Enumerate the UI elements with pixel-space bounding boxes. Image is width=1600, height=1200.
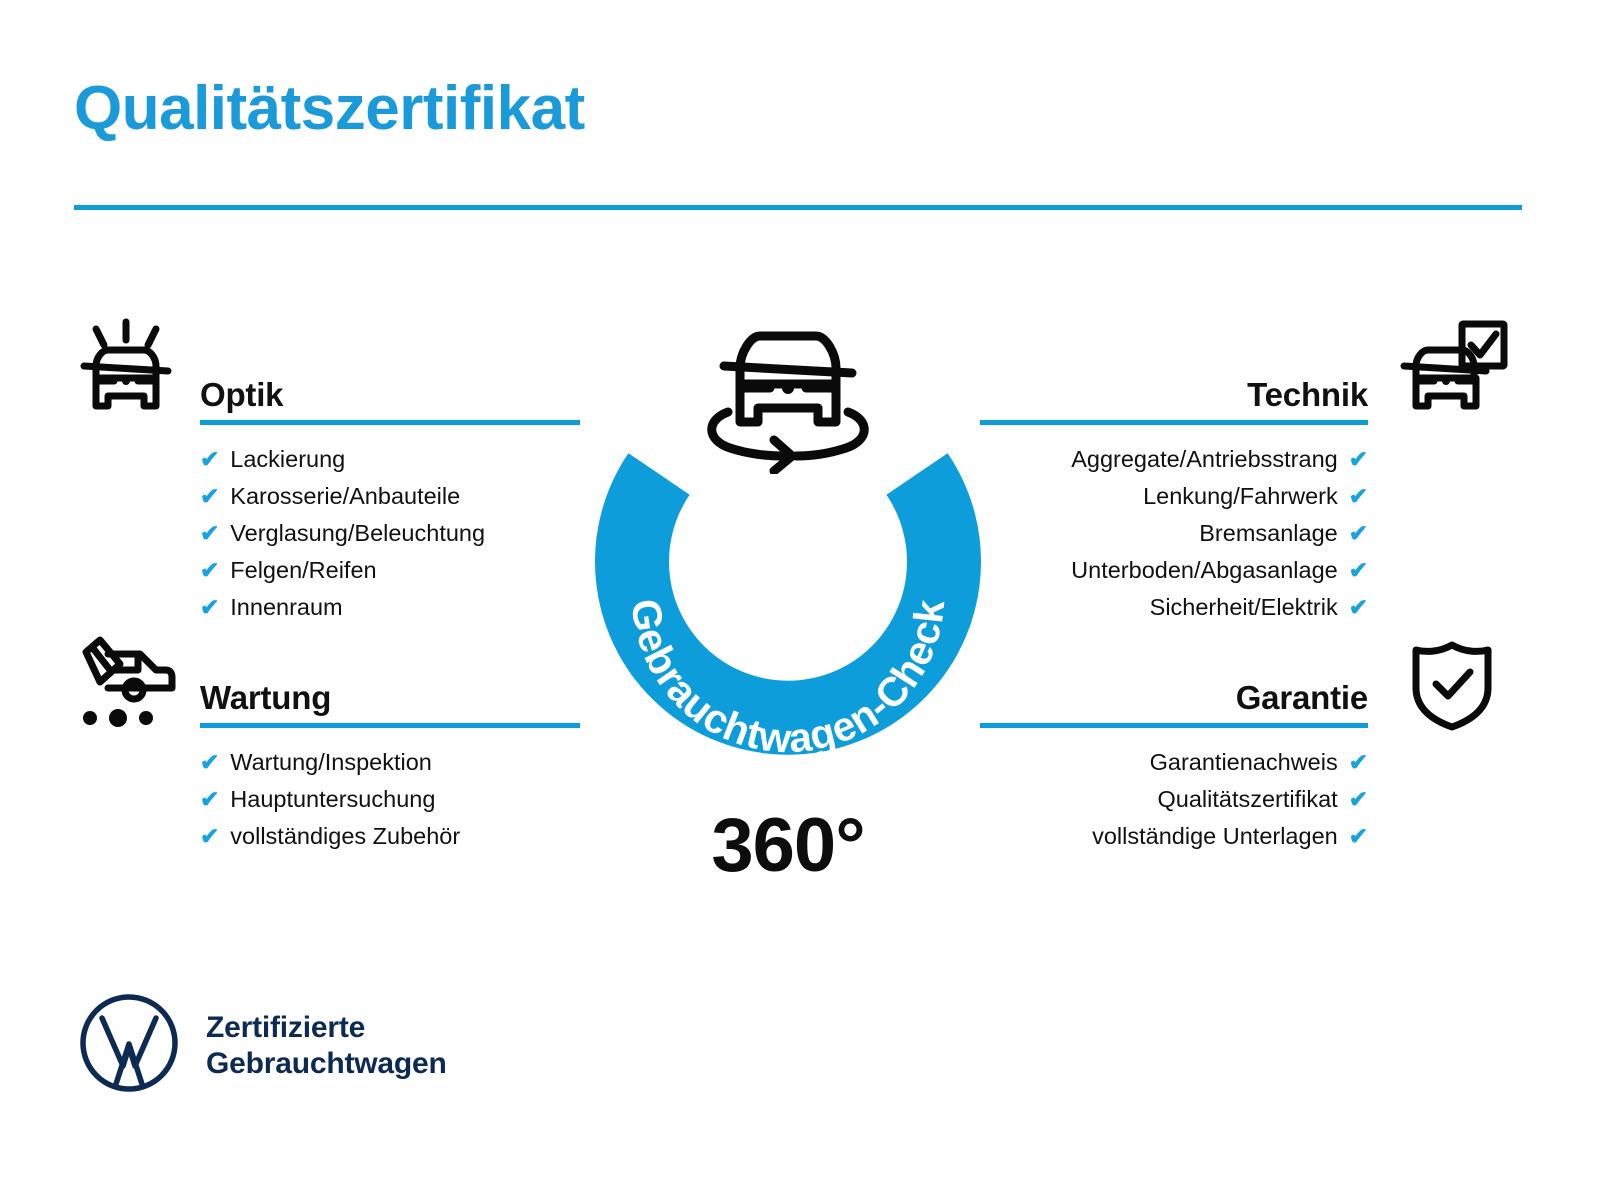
checklist-wartung: ✔Wartung/Inspektion ✔Hauptuntersuchung ✔… — [200, 744, 580, 855]
checklist-technik: Aggregate/Antriebsstrang✔ Lenkung/Fahrwe… — [980, 441, 1368, 626]
check-icon: ✔ — [1349, 552, 1368, 589]
list-item-label: Wartung/Inspektion — [230, 744, 432, 781]
section-title: Optik — [200, 376, 283, 414]
list-item-label: Aggregate/Antriebsstrang — [1071, 441, 1338, 478]
list-item: Aggregate/Antriebsstrang✔ — [980, 441, 1368, 478]
list-item: Garantienachweis✔ — [980, 744, 1368, 781]
list-item-label: Felgen/Reifen — [230, 552, 376, 589]
list-item: ✔vollständiges Zubehör — [200, 818, 580, 855]
shield-check-icon — [1408, 640, 1496, 737]
pencil-car-service-icon — [74, 636, 178, 737]
list-item-label: Bremsanlage — [1199, 515, 1337, 552]
section-divider — [980, 420, 1368, 425]
section-divider — [200, 420, 580, 425]
list-item: Qualitätszertifikat✔ — [980, 781, 1368, 818]
check-icon: ✔ — [1349, 441, 1368, 478]
section-technik: Technik Aggregate/Antriebsstrang✔ Lenkun… — [980, 362, 1368, 626]
section-header: Technik — [980, 362, 1368, 418]
check-icon: ✔ — [200, 478, 219, 515]
list-item: Bremsanlage✔ — [980, 515, 1368, 552]
vw-wordmark-line1: Zertifizierte — [206, 1010, 447, 1046]
list-item-label: Garantienachweis — [1150, 744, 1338, 781]
list-item-label: Verglasung/Beleuchtung — [230, 515, 485, 552]
list-item: ✔Felgen/Reifen — [200, 552, 580, 589]
checklist-optik: ✔Lackierung ✔Karosserie/Anbauteile ✔Verg… — [200, 441, 580, 626]
list-item: Lenkung/Fahrwerk✔ — [980, 478, 1368, 515]
checklist-garantie: Garantienachweis✔ Qualitätszertifikat✔ v… — [980, 744, 1368, 855]
list-item: Sicherheit/Elektrik✔ — [980, 589, 1368, 626]
check-icon: ✔ — [1349, 515, 1368, 552]
list-item-label: vollständige Unterlagen — [1092, 818, 1338, 855]
check-icon: ✔ — [1349, 589, 1368, 626]
check-icon: ✔ — [200, 515, 219, 552]
car-checkbox-icon — [1400, 318, 1508, 423]
page-title: Qualitätszertifikat — [74, 78, 585, 140]
vw-wordmark: Zertifizierte Gebrauchtwagen — [206, 1010, 447, 1082]
section-garantie: Garantie Garantienachweis✔ Qualitätszert… — [980, 665, 1368, 855]
list-item-label: Innenraum — [230, 589, 342, 626]
car-rotation-icon — [686, 308, 890, 479]
check-icon: ✔ — [1349, 744, 1368, 781]
list-item-label: vollständiges Zubehör — [230, 818, 460, 855]
check-icon: ✔ — [1349, 818, 1368, 855]
section-title: Technik — [1247, 376, 1368, 414]
list-item-label: Karosserie/Anbauteile — [230, 478, 460, 515]
list-item-label: Lenkung/Fahrwerk — [1143, 478, 1338, 515]
section-divider — [980, 723, 1368, 728]
section-optik: Optik ✔Lackierung ✔Karosserie/Anbauteile… — [200, 362, 580, 626]
list-item-label: Qualitätszertifikat — [1157, 781, 1337, 818]
gebrauchtwagen-check-badge: Gebrauchtwagen-Check 360° — [578, 300, 998, 760]
section-divider — [200, 723, 580, 728]
list-item: ✔Innenraum — [200, 589, 580, 626]
list-item-label: Lackierung — [230, 441, 345, 478]
header-divider — [74, 205, 1522, 210]
section-title: Garantie — [1236, 679, 1368, 717]
vw-wordmark-line2: Gebrauchtwagen — [206, 1046, 447, 1082]
check-icon: ✔ — [200, 744, 219, 781]
list-item: ✔Lackierung — [200, 441, 580, 478]
badge-value: 360° — [578, 808, 998, 884]
section-wartung: Wartung ✔Wartung/Inspektion ✔Hauptunters… — [200, 665, 580, 855]
section-title: Wartung — [200, 679, 331, 717]
section-header: Garantie — [980, 665, 1368, 721]
list-item: Unterboden/Abgasanlage✔ — [980, 552, 1368, 589]
list-item-label: Unterboden/Abgasanlage — [1071, 552, 1338, 589]
check-icon: ✔ — [1349, 781, 1368, 818]
section-header: Optik — [200, 362, 580, 418]
list-item-label: Sicherheit/Elektrik — [1150, 589, 1338, 626]
list-item: ✔Hauptuntersuchung — [200, 781, 580, 818]
list-item-label: Hauptuntersuchung — [230, 781, 435, 818]
list-item: vollständige Unterlagen✔ — [980, 818, 1368, 855]
car-front-shine-icon — [74, 318, 178, 423]
vw-logo — [78, 992, 180, 1099]
list-item: ✔Karosserie/Anbauteile — [200, 478, 580, 515]
vw-certified-lockup: Zertifizierte Gebrauchtwagen — [78, 992, 447, 1099]
list-item: ✔Wartung/Inspektion — [200, 744, 580, 781]
section-header: Wartung — [200, 665, 580, 721]
list-item: ✔Verglasung/Beleuchtung — [200, 515, 580, 552]
check-icon: ✔ — [200, 552, 219, 589]
check-icon: ✔ — [200, 441, 219, 478]
check-icon: ✔ — [200, 818, 219, 855]
check-icon: ✔ — [200, 589, 219, 626]
check-icon: ✔ — [1349, 478, 1368, 515]
check-icon: ✔ — [200, 781, 219, 818]
